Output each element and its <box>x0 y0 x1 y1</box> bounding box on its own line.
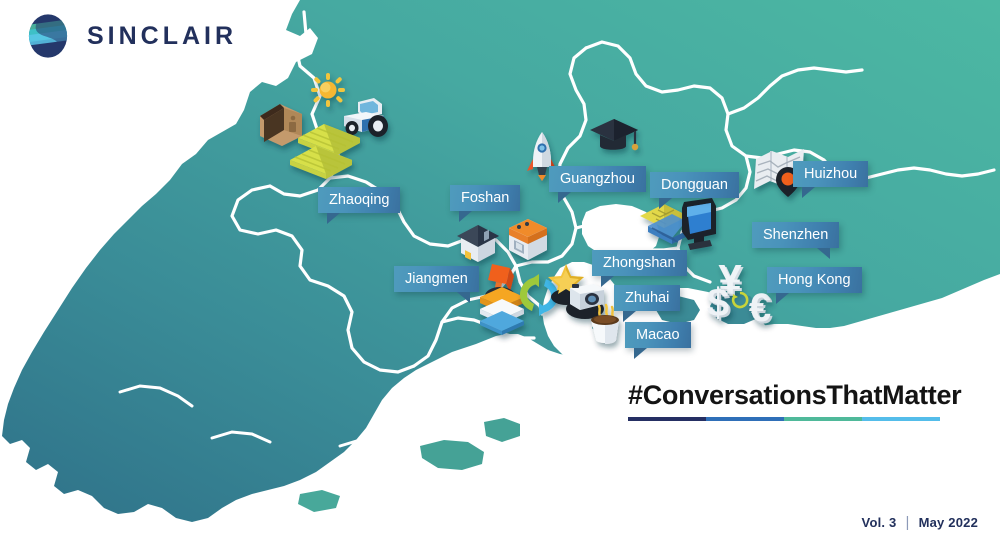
city-label-foshan[interactable]: Foshan <box>450 185 520 211</box>
rule-segment-2 <box>706 417 784 421</box>
footer-divider: | <box>905 514 909 531</box>
sinclair-s-circle-logo <box>22 10 74 62</box>
label-tail <box>659 198 672 209</box>
label-tail <box>327 213 340 224</box>
footer-meta: Vol. 3 | May 2022 <box>862 514 978 531</box>
label-tail <box>776 293 789 304</box>
city-label-text: Jiangmen <box>405 272 468 287</box>
rule-segment-3 <box>784 417 862 421</box>
brand-logo: SINCLAIR <box>22 10 237 62</box>
hashtag-rule <box>628 417 940 421</box>
hashtag-text: #ConversationsThatMatter <box>628 382 961 409</box>
city-label-text: Hong Kong <box>778 273 851 288</box>
label-tail <box>802 187 815 198</box>
brand-wordmark: SINCLAIR <box>87 24 237 49</box>
label-tail <box>459 211 472 222</box>
city-label-zhongshan[interactable]: Zhongshan <box>592 250 687 276</box>
label-tail <box>634 348 647 359</box>
city-label-huizhou[interactable]: Huizhou <box>793 161 868 187</box>
label-tail <box>558 192 571 203</box>
hashtag-block: #ConversationsThatMatter <box>628 382 961 421</box>
date-text: May 2022 <box>919 515 978 530</box>
city-label-guangzhou[interactable]: Guangzhou <box>549 166 646 192</box>
city-label-text: Macao <box>636 328 680 343</box>
volume-text: Vol. 3 <box>862 515 897 530</box>
city-label-text: Foshan <box>461 191 509 206</box>
city-label-text: Zhongshan <box>603 256 676 271</box>
city-label-text: Zhuhai <box>625 291 669 306</box>
city-label-text: Shenzhen <box>763 228 828 243</box>
label-tail <box>817 248 830 259</box>
city-label-zhaoqing[interactable]: Zhaoqing <box>318 187 400 213</box>
city-label-hong-kong[interactable]: Hong Kong <box>767 267 862 293</box>
city-label-text: Guangzhou <box>560 172 635 187</box>
city-label-shenzhen[interactable]: Shenzhen <box>752 222 839 248</box>
infographic-canvas: SINCLAIR <box>0 0 1000 554</box>
city-label-text: Huizhou <box>804 167 857 182</box>
city-label-dongguan[interactable]: Dongguan <box>650 172 739 198</box>
city-label-zhuhai[interactable]: Zhuhai <box>614 285 680 311</box>
city-label-jiangmen[interactable]: Jiangmen <box>394 266 479 292</box>
rule-segment-1 <box>628 417 706 421</box>
label-tail <box>601 276 614 287</box>
city-label-macao[interactable]: Macao <box>625 322 691 348</box>
rule-segment-4 <box>862 417 940 421</box>
label-tail <box>457 292 470 303</box>
city-label-text: Dongguan <box>661 178 728 193</box>
city-label-text: Zhaoqing <box>329 193 389 208</box>
label-tail <box>623 311 636 322</box>
